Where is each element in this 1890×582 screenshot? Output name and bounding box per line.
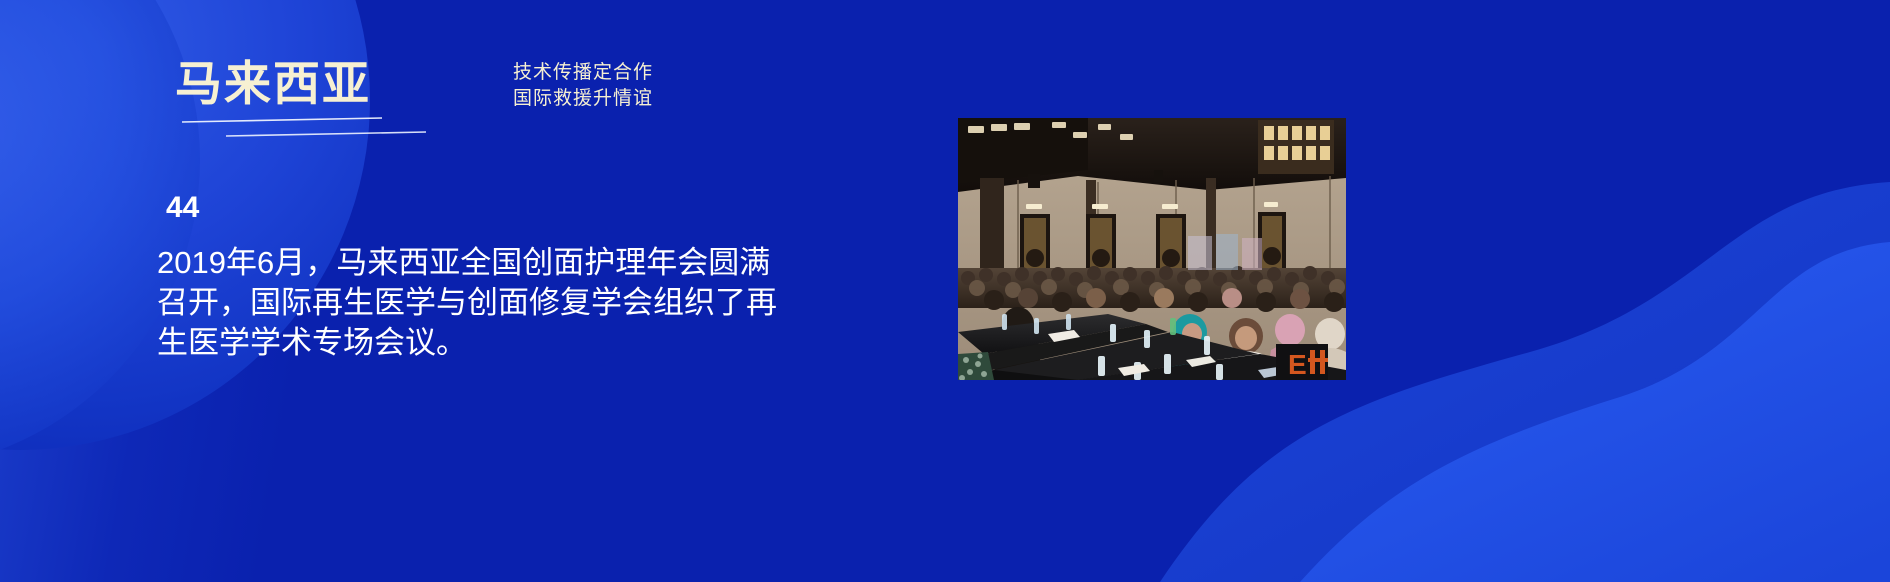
- presentation-slide: 马来西亚 技术传播定合作 国际救援升情谊 44 2019年6月，马来西亚全国创面…: [0, 0, 1890, 582]
- item-number: 44: [166, 193, 199, 223]
- conference-photo: E: [958, 118, 1346, 380]
- body-line-1: 2019年6月，马来西亚全国创面护理年会圆满: [157, 243, 807, 283]
- slogan-line-1: 技术传播定合作: [468, 60, 698, 86]
- title-underline-decoration: [168, 112, 428, 142]
- body-line-2: 召开，国际再生医学与创面修复学会组织了再: [157, 283, 807, 323]
- page-title: 马来西亚: [175, 60, 371, 107]
- slogan-subtitle: 技术传播定合作 国际救援升情谊: [468, 60, 698, 112]
- body-paragraph: 2019年6月，马来西亚全国创面护理年会圆满 召开，国际再生医学与创面修复学会组…: [157, 243, 807, 363]
- slogan-line-2: 国际救援升情谊: [468, 86, 698, 112]
- body-line-3: 生医学学术专场会议。: [157, 323, 807, 363]
- banner-letter: E: [1288, 349, 1307, 380]
